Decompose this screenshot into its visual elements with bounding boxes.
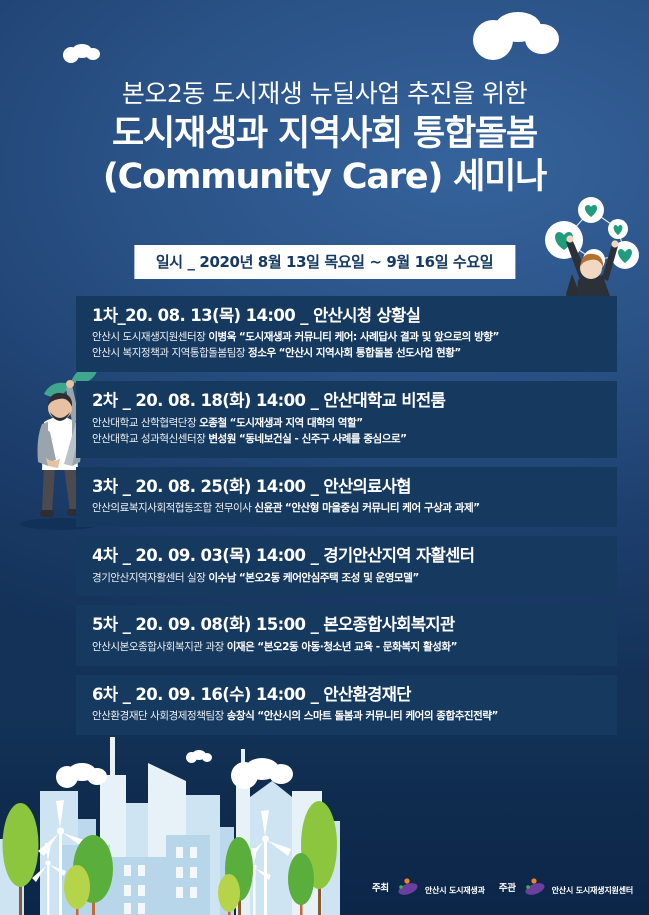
credit-label: 주관 bbox=[499, 880, 516, 894]
speaker-name: 이병욱 bbox=[208, 331, 236, 343]
speaker-name: 정소우 bbox=[248, 347, 276, 359]
speaker-line: 안산시 복지정책과 지역통합돌봄팀장 정소우 “안산시 지역사회 통합돌봄 선도… bbox=[92, 346, 601, 362]
speaker-affiliation: 안산시 복지정책과 지역통합돌봄팀장 bbox=[92, 347, 245, 359]
speaker-name: 송창식 bbox=[227, 710, 255, 722]
session-item: 4차 _ 20. 09. 03(목) 14:00 _ 경기안산지역 자활센터 경… bbox=[76, 536, 617, 596]
ansan-logo-icon bbox=[521, 877, 547, 897]
speaker-topic: “도시재생과 커뮤니티 케어: 사례답사 결과 및 앞으로의 방향” bbox=[239, 331, 499, 343]
speaker-topic: “안산시의 스마트 돌봄과 커뮤니티 케어의 종합추진전략” bbox=[257, 710, 498, 722]
cloud-icon bbox=[72, 44, 92, 58]
credit-organization: 안산시 도시재생과 bbox=[425, 885, 485, 897]
speaker-affiliation: 안산의료복지사회적협동조합 전무이사 bbox=[92, 502, 251, 514]
speaker-affiliation: 안산시본오종합사회복지관 과장 bbox=[92, 641, 224, 653]
speaker-topic: “동네보건실 - 신주구 사례를 중심으로” bbox=[239, 433, 407, 445]
credit-label: 주최 bbox=[372, 880, 389, 894]
poster-header: 본오2동 도시재생 뉴딜사업 추진을 위한 도시재생과 지역사회 통합돌봄 (C… bbox=[0, 78, 649, 199]
speaker-topic: “본오2동 케어안심주택 조성 및 운영모델” bbox=[239, 572, 419, 584]
session-item: 5차 _ 20. 09. 08(화) 15:00 _ 본오종합사회복지관 안산시… bbox=[76, 605, 617, 665]
poster-subtitle: 본오2동 도시재생 뉴딜사업 추진을 위한 bbox=[0, 78, 649, 109]
speaker-line: 안산대학교 성과혁신센터장 변성원 “동네보건실 - 신주구 사례를 중심으로” bbox=[92, 432, 601, 448]
speaker-affiliation: 안산환경재단 사회경제정책팀장 bbox=[92, 710, 224, 722]
speaker-name: 이수남 bbox=[208, 572, 236, 584]
credit-organization: 안산시 도시재생지원센터 bbox=[552, 885, 633, 897]
speaker-line: 안산시본오종합사회복지관 과장 이재은 “본오2동 아동·청소년 교육 - 문화… bbox=[92, 640, 601, 656]
session-title: 1차_20. 08. 13(목) 14:00 _ 안산시청 상황실 bbox=[92, 305, 601, 326]
speaker-list: 안산환경재단 사회경제정책팀장 송창식 “안산시의 스마트 돌봄과 커뮤니티 케… bbox=[92, 709, 601, 725]
footer-credits: 주최 안산시 도시재생과 주관 안산시 도시재생지원센터 bbox=[372, 877, 633, 897]
session-item: 2차 _ 20. 08. 18(화) 14:00 _ 안산대학교 비전룸 안산대… bbox=[76, 381, 617, 457]
cloud-icon bbox=[192, 750, 206, 760]
speaker-name: 변성원 bbox=[208, 433, 236, 445]
speaker-topic: “도시재생과 지역 대학의 역할” bbox=[230, 417, 363, 429]
date-banner: 일시 _ 2020년 8월 13일 목요일 ~ 9월 16일 수요일 bbox=[134, 245, 515, 279]
session-title: 2차 _ 20. 08. 18(화) 14:00 _ 안산대학교 비전룸 bbox=[92, 390, 601, 411]
speaker-list: 안산시본오종합사회복지관 과장 이재은 “본오2동 아동·청소년 교육 - 문화… bbox=[92, 640, 601, 656]
cloud-icon bbox=[68, 763, 96, 781]
seminar-poster: 본오2동 도시재생 뉴딜사업 추진을 위한 도시재생과 지역사회 통합돌봄 (C… bbox=[0, 0, 649, 915]
speaker-topic: “본오2동 아동·청소년 교육 - 문화복지 활성화” bbox=[257, 641, 457, 653]
speaker-name: 신윤관 bbox=[254, 502, 282, 514]
cloud-icon bbox=[245, 758, 279, 780]
session-title: 4차 _ 20. 09. 03(목) 14:00 _ 경기안산지역 자활센터 bbox=[92, 545, 601, 566]
credit-host: 주최 안산시 도시재생과 bbox=[372, 877, 485, 897]
speaker-topic: “안산형 마을중심 커뮤니티 케어 구상과 과제” bbox=[285, 502, 480, 514]
speaker-line: 안산대학교 산학협력단장 오종철 “도시재생과 지역 대학의 역할” bbox=[92, 416, 601, 432]
session-title: 6차 _ 20. 09. 16(수) 14:00 _ 안산환경재단 bbox=[92, 684, 601, 705]
speaker-affiliation: 안산시 도시재생지원센터장 bbox=[92, 331, 205, 343]
speaker-list: 안산의료복지사회적협동조합 전무이사 신윤관 “안산형 마을중심 커뮤니티 케어… bbox=[92, 501, 601, 517]
session-list: 1차_20. 08. 13(목) 14:00 _ 안산시청 상황실 안산시 도시… bbox=[76, 296, 617, 744]
speaker-affiliation: 안산대학교 성과혁신센터장 bbox=[92, 433, 205, 445]
speaker-list: 안산대학교 산학협력단장 오종철 “도시재생과 지역 대학의 역할” 안산대학교… bbox=[92, 416, 601, 448]
session-item: 1차_20. 08. 13(목) 14:00 _ 안산시청 상황실 안산시 도시… bbox=[76, 296, 617, 372]
speaker-line: 경기안산지역자활센터 실장 이수남 “본오2동 케어안심주택 조성 및 운영모델… bbox=[92, 571, 601, 587]
cloud-icon bbox=[495, 12, 541, 42]
speaker-line: 안산시 도시재생지원센터장 이병욱 “도시재생과 커뮤니티 케어: 사례답사 결… bbox=[92, 330, 601, 346]
credit-organizer: 주관 안산시 도시재생지원센터 bbox=[499, 877, 633, 897]
session-title: 5차 _ 20. 09. 08(화) 15:00 _ 본오종합사회복지관 bbox=[92, 614, 601, 635]
session-item: 3차 _ 20. 08. 25(화) 14:00 _ 안산의료사협 안산의료복지… bbox=[76, 467, 617, 527]
city-skyline-illustration bbox=[0, 735, 340, 915]
ansan-logo-icon bbox=[394, 877, 420, 897]
speaker-affiliation: 안산대학교 산학협력단장 bbox=[92, 417, 196, 429]
session-title: 3차 _ 20. 08. 25(화) 14:00 _ 안산의료사협 bbox=[92, 476, 601, 497]
session-item: 6차 _ 20. 09. 16(수) 14:00 _ 안산환경재단 안산환경재단… bbox=[76, 675, 617, 735]
speaker-line: 안산환경재단 사회경제정책팀장 송창식 “안산시의 스마트 돌봄과 커뮤니티 케… bbox=[92, 709, 601, 725]
speaker-line: 안산의료복지사회적협동조합 전무이사 신윤관 “안산형 마을중심 커뮤니티 케어… bbox=[92, 501, 601, 517]
speaker-list: 경기안산지역자활센터 실장 이수남 “본오2동 케어안심주택 조성 및 운영모델… bbox=[92, 571, 601, 587]
speaker-name: 오종철 bbox=[199, 417, 227, 429]
speaker-affiliation: 경기안산지역자활센터 실장 bbox=[92, 572, 205, 584]
speaker-list: 안산시 도시재생지원센터장 이병욱 “도시재생과 커뮤니티 케어: 사례답사 결… bbox=[92, 330, 601, 362]
poster-title-line1: 도시재생과 지역사회 통합돌봄 bbox=[0, 113, 649, 156]
speaker-topic: “안산시 지역사회 통합돌봄 선도사업 현황” bbox=[279, 347, 461, 359]
speaker-name: 이재은 bbox=[227, 641, 255, 653]
